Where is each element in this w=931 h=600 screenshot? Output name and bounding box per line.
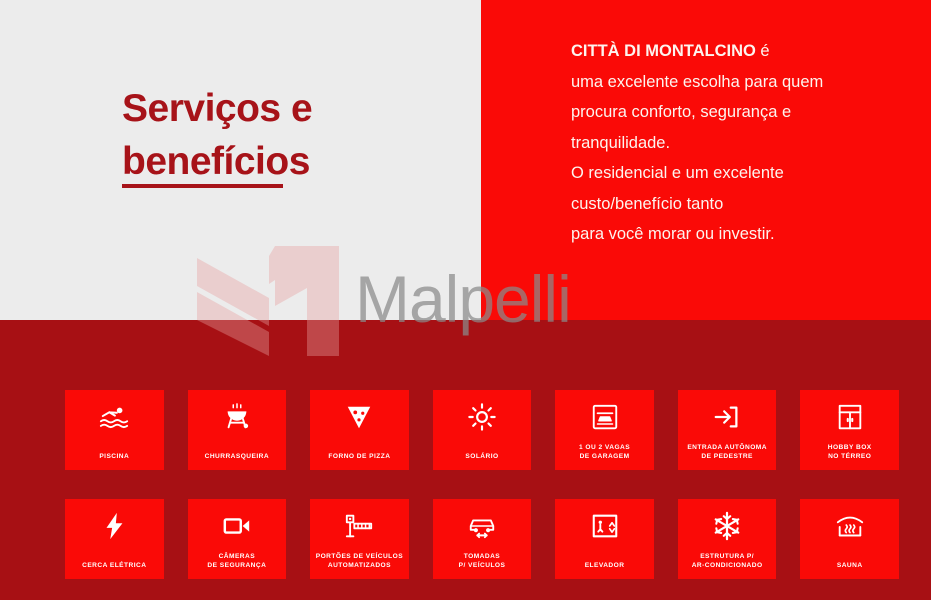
sauna-steam-icon [835, 511, 865, 541]
amenity-tile-entrada-autonoma[interactable]: ENTRADA AUTÔNOMA DE PEDESTRE [678, 390, 777, 470]
enter-door-arrow-icon [712, 402, 742, 432]
page-title-line-2: benefícios [122, 135, 452, 188]
amenity-label: CERCA ELÉTRICA [67, 561, 162, 570]
garage-car-icon [590, 402, 620, 432]
page-title-line-1: Serviços e [122, 82, 452, 135]
amenity-label-line-1: ENTRADA AUTÔNOMA [687, 444, 767, 451]
amenity-tile-solario[interactable]: SOLÁRIO [433, 390, 532, 470]
amenity-label-line-1: TOMADAS [464, 553, 500, 560]
amenity-tile-elevador[interactable]: ELEVADOR [555, 499, 654, 579]
amenity-label-line-1: FORNO DE PIZZA [328, 453, 390, 460]
amenity-label-line-2: P/ VEÍCULOS [435, 561, 530, 570]
description-line-5: O residencial e um excelente [571, 158, 921, 189]
amenity-label: CHURRASQUEIRA [190, 452, 285, 461]
amenity-label: ELEVADOR [557, 561, 652, 570]
snowflake-icon [712, 511, 742, 541]
barbecue-grill-icon [222, 402, 252, 432]
amenity-tile-churrasqueira[interactable]: CHURRASQUEIRA [188, 390, 287, 470]
amenity-label-line-2: AUTOMATIZADOS [312, 561, 407, 570]
amenity-label: ENTRADA AUTÔNOMA DE PEDESTRE [680, 443, 775, 461]
amenity-label: PORTÕES DE VEÍCULOS AUTOMATIZADOS [312, 552, 407, 570]
page-title: Serviços e benefícios [122, 82, 452, 188]
amenity-label: SOLÁRIO [435, 452, 530, 461]
amenity-label-line-1: PORTÕES DE VEÍCULOS [316, 553, 403, 560]
car-charger-icon [467, 511, 497, 541]
amenity-tile-cerca-eletrica[interactable]: CERCA ELÉTRICA [65, 499, 164, 579]
amenity-tile-ar-condicionado[interactable]: ESTRUTURA P/ AR-CONDICIONADO [678, 499, 777, 579]
amenity-label-line-1: SAUNA [837, 562, 863, 569]
amenity-label: HOBBY BOX NO TÉRREO [802, 443, 897, 461]
amenity-label: 1 OU 2 VAGAS DE GARAGEM [557, 443, 652, 461]
elevator-icon [590, 511, 620, 541]
amenity-label-line-1: ESTRUTURA P/ [700, 553, 754, 560]
description-line-2: uma excelente escolha para quem [571, 67, 921, 98]
amenity-tile-forno-de-pizza[interactable]: FORNO DE PIZZA [310, 390, 409, 470]
amenity-label-line-1: CÂMERAS [219, 553, 256, 560]
amenity-label-line-1: HOBBY BOX [828, 444, 872, 451]
amenity-label: FORNO DE PIZZA [312, 452, 407, 461]
sun-icon [467, 402, 497, 432]
amenity-label-line-1: ELEVADOR [585, 562, 625, 569]
amenity-label: SAUNA [802, 561, 897, 570]
description-line-1-rest: é [756, 42, 770, 60]
amenity-label-line-1: CERCA ELÉTRICA [82, 562, 146, 569]
amenity-tile-hobby-box[interactable]: HOBBY BOX NO TÉRREO [800, 390, 899, 470]
amenity-label-line-1: 1 OU 2 VAGAS [579, 444, 630, 451]
description-line-3: procura conforto, segurança e [571, 97, 921, 128]
amenity-label: ESTRUTURA P/ AR-CONDICIONADO [680, 552, 775, 570]
video-camera-icon [222, 511, 252, 541]
lightning-bolt-icon [99, 511, 129, 541]
description-line-7: para você morar ou investir. [571, 219, 921, 250]
description-line-6: custo/benefício tanto [571, 189, 921, 220]
amenity-label-line-2: DE GARAGEM [557, 452, 652, 461]
amenity-label-line-2: DE SEGURANÇA [190, 561, 285, 570]
amenity-tile-tomadas-veiculos[interactable]: TOMADAS P/ VEÍCULOS [433, 499, 532, 579]
services-benefits-slide: Serviços e benefícios CITTÀ DI MONTALCIN… [0, 0, 931, 600]
amenity-tile-sauna[interactable]: SAUNA [800, 499, 899, 579]
amenity-label: PISCINA [67, 452, 162, 461]
description-line-4: tranquilidade. [571, 128, 921, 159]
storage-cabinet-icon [835, 402, 865, 432]
gate-barrier-icon [344, 511, 374, 541]
amenity-label-line-1: SOLÁRIO [465, 453, 498, 460]
amenity-label-line-1: CHURRASQUEIRA [205, 453, 269, 460]
amenity-tile-cameras-de-seguranca[interactable]: CÂMERAS DE SEGURANÇA [188, 499, 287, 579]
amenity-label: TOMADAS P/ VEÍCULOS [435, 552, 530, 570]
amenity-tile-vagas-de-garagem[interactable]: 1 OU 2 VAGAS DE GARAGEM [555, 390, 654, 470]
amenity-tile-piscina[interactable]: PISCINA [65, 390, 164, 470]
title-divider [122, 184, 283, 188]
amenity-label: CÂMERAS DE SEGURANÇA [190, 552, 285, 570]
amenity-tile-portoes-de-veiculos[interactable]: PORTÕES DE VEÍCULOS AUTOMATIZADOS [310, 499, 409, 579]
amenity-label-line-2: AR-CONDICIONADO [680, 561, 775, 570]
description-text: CITTÀ DI MONTALCINO é uma excelente esco… [571, 36, 921, 250]
project-name: CITTÀ DI MONTALCINO [571, 42, 756, 60]
amenity-label-line-2: NO TÉRREO [802, 452, 897, 461]
swimmer-pool-icon [99, 402, 129, 432]
amenities-grid: PISCINA CHURRASQUEIRA [65, 390, 899, 579]
amenity-label-line-1: PISCINA [99, 453, 129, 460]
pizza-slice-icon [344, 402, 374, 432]
amenity-label-line-2: DE PEDESTRE [680, 452, 775, 461]
description-line-1: CITTÀ DI MONTALCINO é [571, 36, 921, 67]
